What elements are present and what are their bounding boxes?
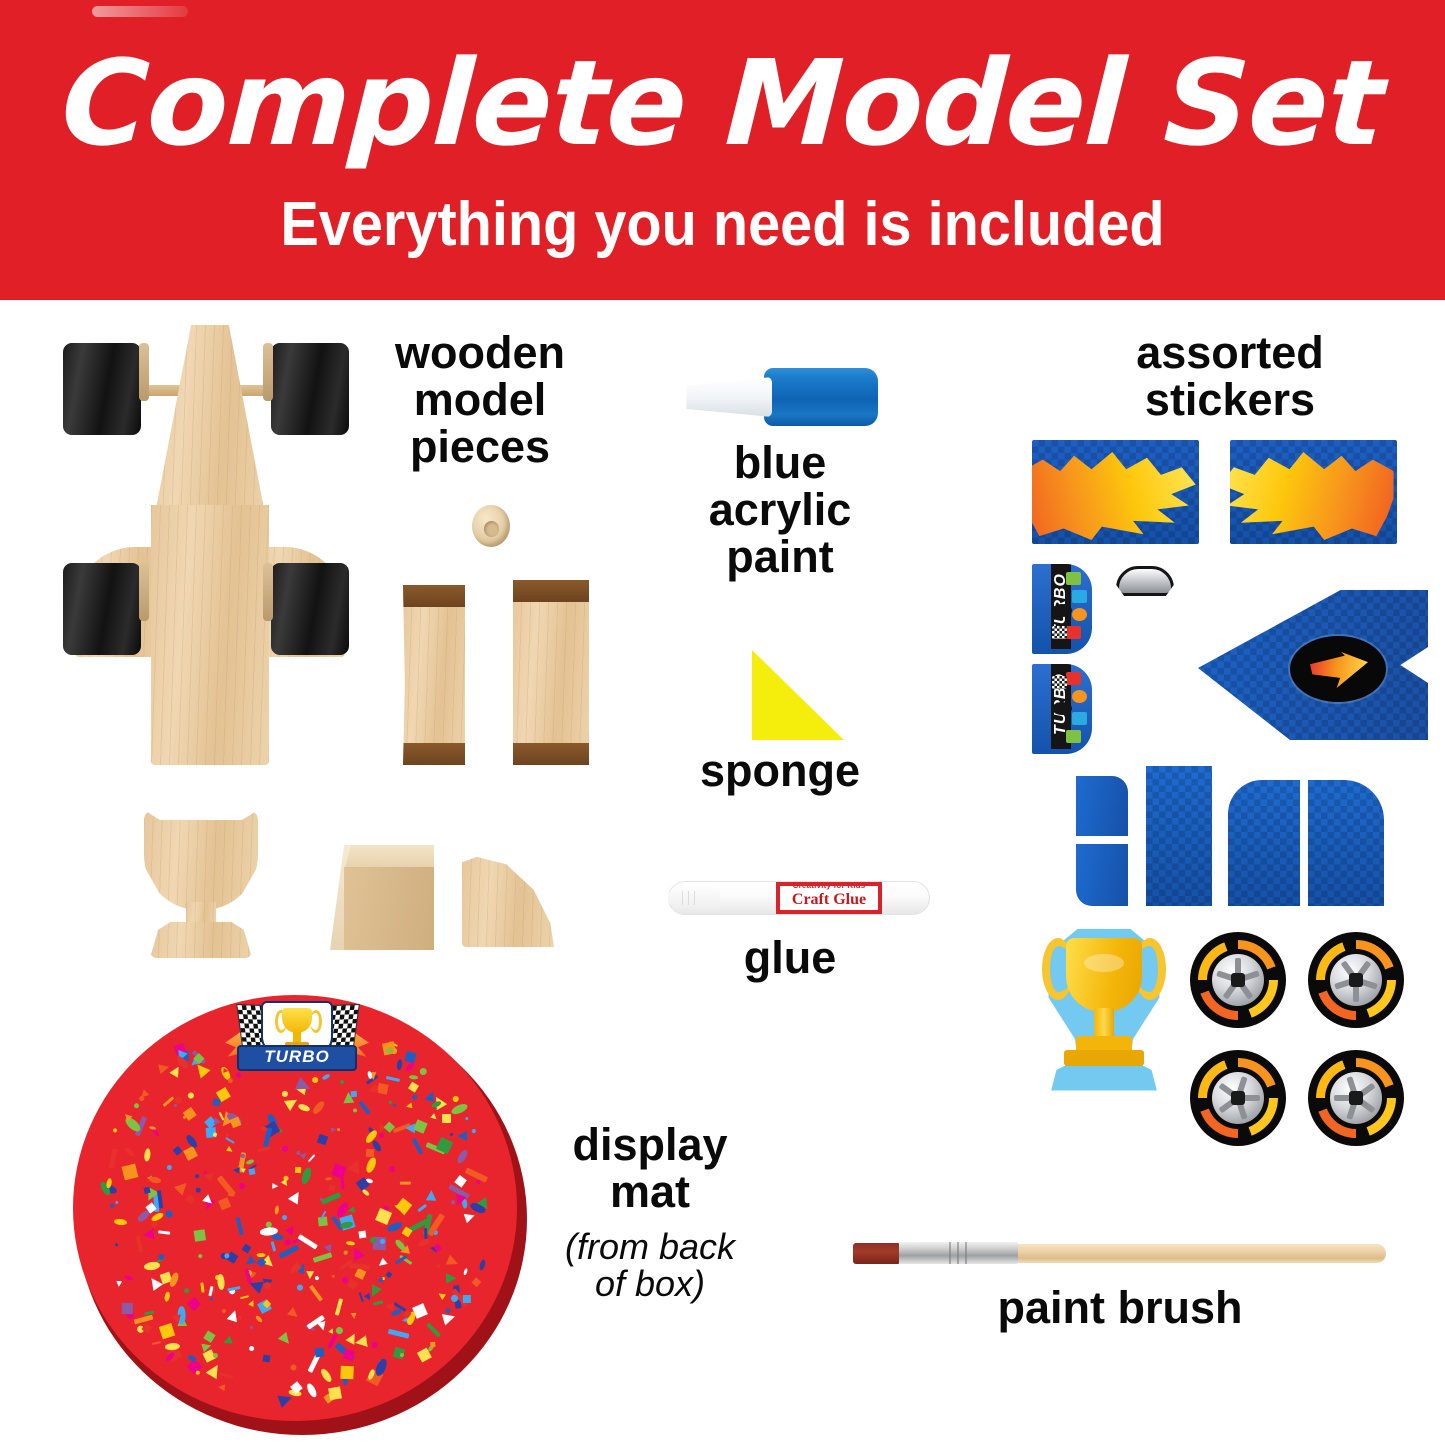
confetti-piece bbox=[358, 1101, 370, 1115]
confetti-piece bbox=[109, 1148, 118, 1169]
confetti-piece bbox=[352, 1107, 358, 1113]
confetti-piece bbox=[348, 1206, 356, 1214]
paint-pot-body bbox=[764, 368, 878, 426]
sticker-wheel-4 bbox=[1308, 1050, 1404, 1146]
confetti-piece bbox=[446, 1273, 457, 1284]
wooden-dowel-icon bbox=[472, 505, 510, 547]
label-glue: glue bbox=[660, 935, 920, 982]
confetti-piece bbox=[258, 1146, 270, 1151]
confetti-piece bbox=[363, 1292, 372, 1301]
confetti-piece bbox=[311, 1099, 326, 1115]
confetti-piece bbox=[298, 1233, 319, 1249]
confetti-piece bbox=[221, 1308, 226, 1313]
paint-brush-icon bbox=[853, 1236, 1386, 1266]
confetti-piece bbox=[187, 1092, 194, 1099]
confetti-piece bbox=[347, 1280, 358, 1291]
confetti-piece bbox=[455, 1148, 469, 1164]
confetti-piece bbox=[417, 1204, 427, 1212]
ferrule-band bbox=[949, 1242, 951, 1264]
confetti-piece bbox=[347, 1157, 364, 1174]
confetti-piece bbox=[312, 1076, 320, 1084]
turbo-logo-icon: TURBO bbox=[223, 1001, 371, 1077]
confetti-piece bbox=[375, 1208, 393, 1226]
confetti-piece bbox=[236, 1217, 245, 1235]
confetti-piece bbox=[283, 1175, 289, 1181]
confetti-piece bbox=[295, 1150, 300, 1155]
confetti-piece bbox=[289, 1364, 296, 1371]
brush-handle bbox=[1016, 1244, 1386, 1263]
plank-end-bottom bbox=[403, 743, 465, 765]
logo-banner-text: TURBO bbox=[237, 1047, 357, 1067]
hub-front-right bbox=[263, 343, 273, 401]
confetti-piece bbox=[471, 1277, 481, 1287]
page-subtitle: Everything you need is included bbox=[51, 194, 1395, 256]
confetti-piece bbox=[212, 1098, 220, 1106]
confetti-piece bbox=[450, 1133, 454, 1137]
hub-rear-right bbox=[263, 563, 273, 621]
confetti-piece bbox=[285, 1223, 297, 1235]
confetti-piece bbox=[313, 1253, 333, 1263]
confetti-piece bbox=[196, 1371, 201, 1376]
plank-end-top bbox=[513, 580, 589, 602]
confetti-piece bbox=[413, 1119, 427, 1133]
label-blue-acrylic-paint: blue acrylic paint bbox=[660, 440, 900, 580]
confetti-piece bbox=[305, 1382, 319, 1399]
car-nose bbox=[151, 325, 269, 535]
confetti-piece bbox=[225, 1137, 235, 1144]
glue-product-text: Craft Glue bbox=[776, 891, 882, 909]
confetti-piece bbox=[250, 1326, 253, 1329]
confetti-piece bbox=[159, 1323, 175, 1339]
confetti-piece bbox=[240, 1295, 249, 1299]
confetti-piece bbox=[359, 1230, 367, 1238]
confetti-piece bbox=[314, 1275, 320, 1281]
confetti-piece bbox=[274, 1205, 280, 1215]
confetti-piece bbox=[328, 1185, 335, 1192]
confetti-piece bbox=[355, 1335, 369, 1349]
confetti-piece bbox=[388, 1100, 392, 1104]
confetti-piece bbox=[478, 1259, 486, 1271]
confetti-piece bbox=[173, 1146, 183, 1156]
confetti-piece bbox=[299, 1151, 308, 1160]
wooden-plank-2 bbox=[513, 580, 589, 765]
header-banner: Complete Model Set Everything you need i… bbox=[0, 0, 1445, 300]
confetti-piece bbox=[281, 1090, 288, 1097]
confetti-piece bbox=[123, 1275, 133, 1282]
confetti-piece bbox=[148, 1176, 161, 1184]
ferrule-band bbox=[965, 1242, 967, 1264]
brush-bristles bbox=[853, 1243, 899, 1264]
wooden-racecar-icon bbox=[55, 325, 365, 765]
turbo-chip bbox=[1072, 712, 1087, 725]
wooden-wedge-block-icon bbox=[330, 845, 434, 950]
confetti-piece bbox=[376, 1257, 388, 1269]
confetti-piece bbox=[248, 1299, 256, 1307]
sticker-helmet-visor bbox=[1116, 566, 1174, 596]
confetti-piece bbox=[212, 1352, 219, 1359]
confetti-piece bbox=[218, 1197, 231, 1210]
turbo-chip bbox=[1052, 702, 1072, 715]
confetti-piece bbox=[362, 1189, 370, 1197]
confetti-piece bbox=[222, 1336, 233, 1347]
confetti-piece bbox=[157, 1231, 169, 1235]
confetti-piece bbox=[330, 1127, 336, 1133]
confetti-piece bbox=[219, 1372, 233, 1379]
confetti-piece bbox=[186, 1194, 195, 1203]
confetti-piece bbox=[255, 1315, 264, 1323]
confetti-piece bbox=[246, 1159, 254, 1165]
confetti-piece bbox=[335, 1299, 344, 1317]
confetti-piece bbox=[115, 1242, 119, 1246]
confetti-piece bbox=[346, 1241, 355, 1246]
confetti-piece bbox=[451, 1200, 456, 1205]
sticker-wheel-2 bbox=[1308, 932, 1404, 1028]
confetti-piece bbox=[434, 1263, 440, 1269]
confetti-piece bbox=[365, 1156, 378, 1174]
wooden-plank-1 bbox=[403, 585, 465, 765]
confetti-piece bbox=[445, 1254, 460, 1269]
confetti-piece bbox=[344, 1251, 348, 1255]
confetti-piece bbox=[278, 1244, 299, 1258]
sticker-blue-panel-3 bbox=[1146, 766, 1212, 906]
confetti-piece bbox=[465, 1167, 488, 1182]
confetti-piece bbox=[358, 1292, 364, 1302]
confetti-piece bbox=[308, 1154, 316, 1162]
confetti-piece bbox=[450, 1102, 469, 1116]
confetti-piece bbox=[113, 1128, 119, 1134]
wheel-hub bbox=[1231, 973, 1245, 987]
ferrule-band bbox=[957, 1242, 959, 1264]
hub-rear-left bbox=[139, 563, 149, 621]
confetti-piece bbox=[336, 1127, 340, 1131]
label-display-mat: display mat bbox=[530, 1122, 770, 1216]
label-assorted-stickers: assorted stickers bbox=[1085, 330, 1375, 424]
confetti-piece bbox=[332, 1163, 348, 1179]
confetti-piece bbox=[457, 1131, 467, 1141]
plank-end-bottom bbox=[513, 743, 589, 765]
logo-trophy-cup bbox=[282, 1008, 312, 1033]
confetti-piece bbox=[409, 1074, 418, 1079]
confetti-piece bbox=[371, 1341, 379, 1349]
confetti-piece bbox=[114, 1218, 127, 1225]
confetti-piece bbox=[463, 1295, 471, 1303]
confetti-piece bbox=[340, 1176, 345, 1190]
wheel-hub bbox=[1349, 973, 1363, 987]
confetti-piece bbox=[173, 1103, 177, 1107]
confetti-piece bbox=[124, 1146, 136, 1158]
confetti-piece bbox=[237, 1182, 245, 1190]
hub-front-left bbox=[139, 343, 149, 401]
confetti-piece bbox=[385, 1271, 393, 1279]
confetti-piece bbox=[228, 1077, 234, 1083]
sticker-wheel-3 bbox=[1190, 1050, 1286, 1146]
tire-rear-right bbox=[271, 563, 349, 655]
confetti-piece bbox=[420, 1068, 427, 1075]
confetti-piece bbox=[134, 1103, 139, 1108]
confetti-piece bbox=[257, 1252, 266, 1256]
confetti-piece bbox=[411, 1138, 423, 1155]
turbo-chip bbox=[1052, 626, 1067, 639]
confetti-piece bbox=[388, 1328, 410, 1338]
confetti-piece bbox=[417, 1238, 430, 1248]
confetti-piece bbox=[148, 1125, 156, 1130]
confetti-piece bbox=[379, 1133, 385, 1139]
wooden-trophy-piece-icon bbox=[140, 810, 262, 958]
glue-tip-line bbox=[682, 891, 683, 905]
plank-end-top bbox=[403, 585, 465, 607]
confetti-piece bbox=[328, 1386, 342, 1400]
sticker-turbo-tag-2: TURBO bbox=[1032, 664, 1092, 754]
glue-brand-text: Creativity for Kids bbox=[778, 881, 880, 890]
confetti-piece bbox=[182, 1115, 186, 1119]
confetti-piece bbox=[248, 1346, 254, 1352]
confetti-piece bbox=[400, 1353, 404, 1357]
confetti-piece bbox=[213, 1133, 217, 1137]
confetti-piece bbox=[405, 1103, 412, 1110]
flame-shape bbox=[1230, 446, 1394, 542]
confetti-piece bbox=[350, 1091, 356, 1097]
confetti-piece bbox=[411, 1093, 419, 1101]
confetti-piece bbox=[335, 1326, 344, 1335]
confetti-piece bbox=[350, 1312, 356, 1318]
confetti-piece bbox=[295, 1167, 301, 1173]
sticker-sheet-icon: TURBO TURBO bbox=[1018, 440, 1428, 1160]
confetti-piece bbox=[167, 1164, 173, 1170]
confetti-piece bbox=[465, 1116, 469, 1120]
sticker-turbo-tag-1: TURBO bbox=[1032, 564, 1092, 654]
sticker-trophy bbox=[1038, 922, 1170, 1094]
confetti-piece bbox=[115, 1200, 120, 1205]
confetti-piece bbox=[332, 1275, 336, 1279]
display-mat-icon: TURBO bbox=[73, 995, 531, 1435]
confetti-piece bbox=[305, 1271, 314, 1280]
confetti-piece bbox=[152, 1341, 162, 1345]
confetti-piece bbox=[241, 1153, 245, 1157]
wheel-hub bbox=[1349, 1091, 1363, 1105]
confetti-piece bbox=[282, 1146, 288, 1152]
confetti-piece bbox=[143, 1228, 155, 1240]
label-sponge: sponge bbox=[660, 748, 900, 795]
confetti-piece bbox=[319, 1367, 333, 1383]
sticker-flame-right bbox=[1230, 440, 1397, 544]
glue-tip-line bbox=[688, 891, 689, 905]
sticker-blue-panel-2 bbox=[1076, 844, 1128, 906]
confetti-piece bbox=[186, 1353, 196, 1362]
confetti-piece bbox=[393, 1104, 397, 1108]
sticker-blue-panel-4 bbox=[1228, 780, 1300, 906]
confetti-piece bbox=[476, 1180, 481, 1185]
car-body bbox=[151, 505, 269, 765]
turbo-chip bbox=[1066, 730, 1081, 743]
confetti-piece bbox=[284, 1239, 292, 1247]
confetti-piece bbox=[149, 1220, 158, 1229]
paint-pot-highlight bbox=[92, 6, 188, 17]
confetti-piece bbox=[209, 1296, 214, 1301]
confetti-piece bbox=[388, 1165, 396, 1173]
confetti-piece bbox=[136, 1235, 143, 1252]
confetti-piece bbox=[193, 1229, 206, 1242]
confetti-piece bbox=[168, 1271, 180, 1287]
confetti-piece bbox=[366, 1149, 375, 1158]
confetti-piece bbox=[115, 1281, 121, 1287]
confetti-piece bbox=[122, 1303, 133, 1314]
confetti-piece bbox=[142, 1322, 153, 1333]
confetti-piece bbox=[444, 1307, 452, 1315]
confetti-piece bbox=[287, 1307, 301, 1321]
confetti-piece bbox=[284, 1095, 300, 1111]
confetti-piece bbox=[203, 1330, 216, 1343]
sticker-blue-panel-1 bbox=[1076, 776, 1128, 836]
turbo-chip bbox=[1072, 608, 1087, 621]
confetti-piece bbox=[144, 1148, 152, 1161]
confetti-piece bbox=[164, 1291, 171, 1302]
confetti-piece bbox=[300, 1166, 313, 1184]
confetti-piece bbox=[454, 1175, 466, 1187]
confetti-piece bbox=[133, 1315, 153, 1325]
confetti-piece bbox=[242, 1243, 252, 1253]
glue-pen-icon: Creativity for Kids Craft Glue bbox=[668, 878, 930, 918]
trophy-base-lower bbox=[1064, 1050, 1144, 1066]
tire-front-left bbox=[63, 343, 141, 435]
turbo-chip bbox=[1052, 604, 1072, 617]
tire-rear-left bbox=[63, 563, 141, 655]
confetti-piece bbox=[321, 1192, 341, 1204]
sponge-triangle-icon bbox=[752, 650, 844, 740]
paint-pot-icon bbox=[680, 368, 878, 426]
confetti-piece bbox=[463, 1268, 468, 1276]
confetti-piece bbox=[341, 1366, 354, 1379]
confetti-piece bbox=[243, 1256, 256, 1269]
glue-tip-line bbox=[694, 891, 695, 905]
confetti-piece bbox=[471, 1128, 476, 1133]
confetti-piece bbox=[206, 1362, 224, 1380]
confetti-piece bbox=[144, 1186, 151, 1193]
confetti-piece bbox=[396, 1059, 403, 1070]
confetti-piece bbox=[201, 1282, 205, 1293]
sticker-blue-panel-5 bbox=[1308, 780, 1384, 906]
paint-pot-cap bbox=[680, 377, 772, 417]
wedge-face bbox=[344, 867, 434, 950]
page-title: Complete Model Set bbox=[0, 44, 1445, 162]
tire-front-right bbox=[271, 343, 349, 435]
confetti-piece bbox=[386, 1075, 400, 1081]
confetti-piece bbox=[109, 1203, 114, 1208]
turbo-chip bbox=[1052, 676, 1067, 689]
confetti-piece bbox=[195, 1173, 201, 1179]
confetti-piece bbox=[314, 1347, 324, 1357]
trophy-base-part bbox=[150, 922, 252, 958]
turbo-chip bbox=[1072, 590, 1087, 603]
confetti-piece bbox=[452, 1095, 460, 1103]
confetti-piece bbox=[430, 1342, 436, 1348]
sticker-wheel-1 bbox=[1190, 932, 1286, 1028]
confetti-piece bbox=[185, 1133, 200, 1150]
turbo-chip bbox=[1066, 626, 1081, 639]
label-paint-brush: paint brush bbox=[930, 1285, 1310, 1332]
label-wooden-model-pieces: wooden model pieces bbox=[355, 330, 605, 470]
confetti-piece bbox=[373, 1358, 388, 1378]
confetti-piece bbox=[217, 1384, 225, 1392]
confetti-piece bbox=[325, 1176, 332, 1180]
confetti-piece bbox=[272, 1183, 279, 1190]
confetti-piece bbox=[377, 1083, 388, 1094]
confetti-piece bbox=[217, 1176, 236, 1197]
confetti-piece bbox=[158, 1062, 170, 1074]
confetti-piece bbox=[122, 1164, 139, 1181]
confetti-piece bbox=[183, 1287, 189, 1293]
confetti-piece bbox=[349, 1245, 365, 1261]
trophy-cup bbox=[1066, 938, 1142, 1012]
confetti-piece bbox=[400, 1182, 411, 1185]
turbo-chip bbox=[1072, 690, 1087, 703]
confetti-piece bbox=[404, 1060, 415, 1071]
confetti-piece bbox=[426, 1322, 441, 1337]
confetti-piece bbox=[429, 1113, 438, 1122]
confetti-piece bbox=[277, 1332, 292, 1347]
confetti-piece bbox=[217, 1273, 226, 1289]
confetti-piece bbox=[297, 1103, 310, 1113]
sticker-flame-left bbox=[1032, 440, 1199, 544]
confetti-piece bbox=[187, 1297, 201, 1311]
confetti-piece bbox=[442, 1114, 451, 1123]
trophy-stem bbox=[1094, 1008, 1114, 1038]
confetti-piece bbox=[226, 1133, 229, 1136]
confetti-piece bbox=[219, 1112, 225, 1121]
confetti-piece bbox=[226, 1146, 234, 1154]
confetti-piece bbox=[316, 1133, 328, 1145]
confetti-piece bbox=[174, 1178, 192, 1196]
confetti-piece bbox=[197, 1253, 203, 1259]
confetti-piece bbox=[143, 1261, 160, 1271]
confetti-piece bbox=[339, 1080, 344, 1085]
confetti-piece bbox=[373, 1301, 383, 1306]
confetti-piece bbox=[271, 1241, 276, 1252]
confetti-piece bbox=[343, 1349, 355, 1361]
confetti-piece bbox=[183, 1146, 198, 1161]
confetti-piece bbox=[408, 1081, 420, 1093]
confetti-piece bbox=[437, 1290, 446, 1299]
turbo-chip bbox=[1066, 572, 1081, 585]
confetti-piece bbox=[281, 1214, 288, 1221]
turbo-chip bbox=[1066, 672, 1081, 685]
confetti-piece bbox=[426, 1190, 437, 1201]
confetti-piece bbox=[165, 1211, 173, 1219]
wheel-hub bbox=[1231, 1091, 1245, 1105]
wooden-quarter-round-icon bbox=[462, 855, 554, 947]
flame-shape bbox=[1032, 446, 1196, 542]
confetti-piece bbox=[309, 1285, 323, 1302]
confetti-piece bbox=[248, 1168, 255, 1175]
confetti-piece bbox=[464, 1211, 477, 1224]
confetti-piece bbox=[263, 1354, 271, 1362]
label-display-mat-note: (from back of box) bbox=[530, 1228, 770, 1303]
confetti-piece bbox=[238, 1316, 244, 1322]
confetti-piece bbox=[288, 1189, 304, 1205]
trophy-cup-part bbox=[144, 810, 258, 910]
confetti-piece bbox=[196, 1188, 201, 1193]
confetti-piece bbox=[297, 1285, 303, 1291]
